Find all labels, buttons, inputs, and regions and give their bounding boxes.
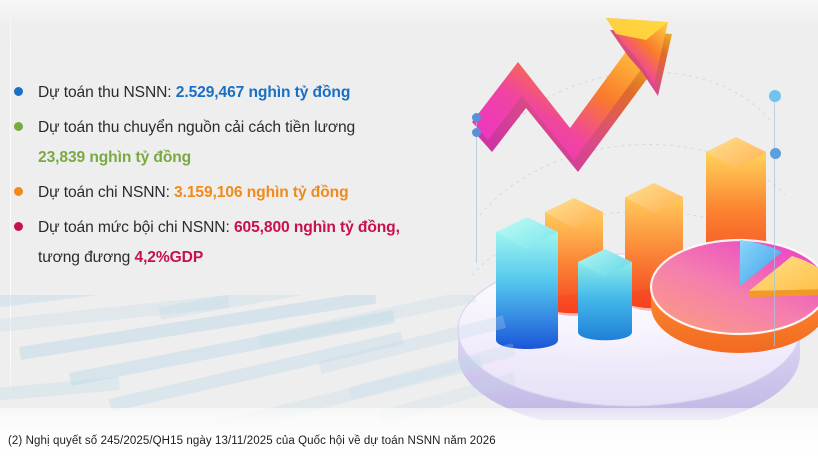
bullet-label: Dự toán thu NSNN:	[38, 84, 176, 101]
bullet-dot-green	[14, 122, 23, 131]
bullet-label: Dự toán mức bội chi NSNN:	[38, 219, 234, 236]
bullet-text-thu-nsnn: Dự toán thu NSNN: 2.529,467 nghìn tỷ đồn…	[38, 78, 440, 108]
bullet-list: Dự toán thu NSNN: 2.529,467 nghìn tỷ đồn…	[10, 78, 440, 278]
accent-dot-right-upper	[769, 90, 781, 102]
connector-line-right	[774, 96, 775, 346]
bullet-text-boi-chi: Dự toán mức bội chi NSNN: 605,800 nghìn …	[38, 213, 438, 273]
chart-illustration	[440, 0, 818, 420]
bullet-text-chuyen-nguon: Dự toán thu chuyển nguồn cải cách tiền l…	[38, 113, 440, 173]
accent-dot-left-lower	[472, 128, 481, 137]
bullet-dot-blue	[14, 87, 23, 96]
bullet-value: 3.159,106 nghìn tỷ đồng	[174, 184, 348, 201]
list-item: Dự toán thu chuyển nguồn cải cách tiền l…	[10, 113, 440, 173]
accent-dot-left-upper	[472, 113, 481, 122]
footer-band	[0, 408, 818, 460]
list-item: Dự toán thu NSNN: 2.529,467 nghìn tỷ đồn…	[10, 78, 440, 108]
footnote-text: (2) Nghị quyết số 245/2025/QH15 ngày 13/…	[8, 435, 496, 447]
connector-line-left	[476, 118, 477, 263]
list-item: Dự toán mức bội chi NSNN: 605,800 nghìn …	[10, 213, 440, 273]
bar-cyan-short	[578, 249, 632, 340]
bullet-tail: tương đương	[38, 249, 135, 266]
bullet-text-chi-nsnn: Dự toán chi NSNN: 3.159,106 nghìn tỷ đồn…	[38, 178, 440, 208]
bullet-dot-orange	[14, 187, 23, 196]
bullet-value: 605,800 nghìn tỷ đồng,	[234, 219, 400, 236]
bullet-value: 2.529,467 nghìn tỷ đồng	[176, 84, 350, 101]
pie-chart	[651, 240, 818, 353]
bullet-dot-crimson	[14, 222, 23, 231]
bullet-tail-value: 4,2%GDP	[135, 249, 204, 266]
accent-dot-right-lower	[770, 148, 781, 159]
bullet-label: Dự toán chi NSNN:	[38, 184, 174, 201]
growth-arrow-icon	[472, 18, 672, 172]
slide-root: Dự toán thu NSNN: 2.529,467 nghìn tỷ đồn…	[0, 0, 818, 460]
bullet-label: Dự toán thu chuyển nguồn cải cách tiền l…	[38, 119, 355, 136]
bar-cyan-tall	[496, 217, 558, 349]
list-item: Dự toán chi NSNN: 3.159,106 nghìn tỷ đồn…	[10, 178, 440, 208]
bullet-value-second-line: 23,839 nghìn tỷ đồng	[38, 143, 440, 173]
